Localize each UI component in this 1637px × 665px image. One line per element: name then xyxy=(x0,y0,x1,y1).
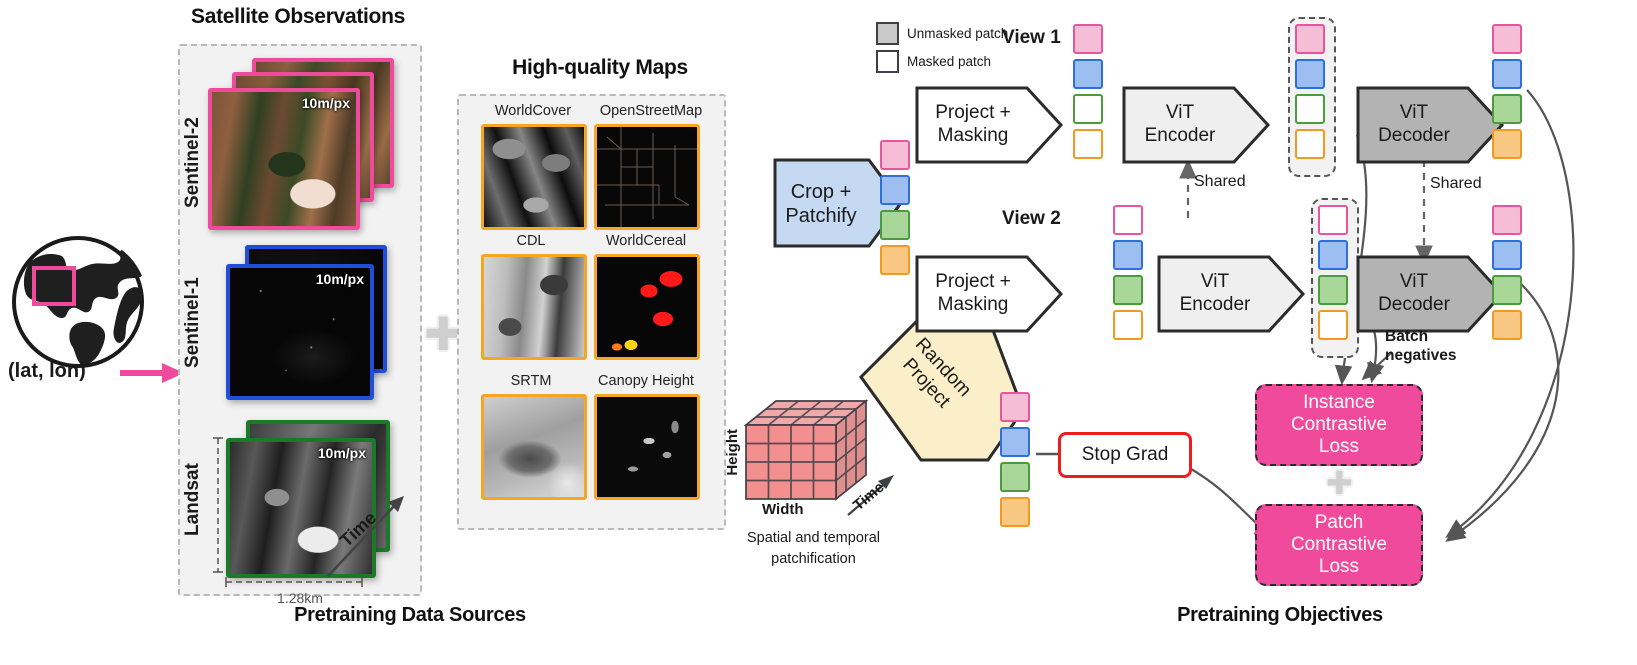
patch-column-view1-encoded xyxy=(1295,24,1325,159)
patch-pink-filled xyxy=(1295,24,1325,54)
patch-pink-filled xyxy=(880,140,910,170)
legend-label-unmasked: Unmasked patch xyxy=(907,26,1008,41)
instance-loss-line1: Instance xyxy=(1291,392,1387,414)
map-tile-worldcereal xyxy=(594,254,700,360)
patch-column-view1-decoded xyxy=(1492,24,1522,159)
latlon-label: (lat, lon) xyxy=(8,360,86,383)
patch-contrastive-loss-box[interactable]: Patch Contrastive Loss xyxy=(1255,504,1423,586)
patch-blue-filled xyxy=(1073,59,1103,89)
map-tile-canopy-height xyxy=(594,394,700,500)
project-masking-2-line2: Masking xyxy=(917,294,1029,317)
shared-decoder-label: Shared xyxy=(1430,175,1482,193)
crop-patchify-line2: Patchify xyxy=(773,204,869,228)
patch-green-filled xyxy=(1000,462,1030,492)
vit-encoder-2-line1: ViT xyxy=(1159,271,1271,294)
resolution-label-sentinel-2: 10m/px xyxy=(302,95,350,111)
vit-encoder-1-line2: Encoder xyxy=(1124,125,1236,148)
satellite-tile-sentinel-1: 10m/px xyxy=(226,264,374,400)
patch-orange-filled xyxy=(1492,310,1522,340)
satellite-source-label-landsat: Landsat xyxy=(182,430,206,570)
patch-loss-line2: Contrastive xyxy=(1291,534,1387,556)
cube-width-label: Width xyxy=(762,501,804,518)
map-label-canopy-height: Canopy Height xyxy=(586,373,706,389)
globe-block: (lat, lon) xyxy=(6,232,171,407)
patch-blue-filled xyxy=(1295,59,1325,89)
patch-column-crop-out xyxy=(880,140,910,275)
satellite-tile-sentinel-2: 10m/px xyxy=(208,88,360,230)
cube-caption-line1: Spatial and temporal xyxy=(706,530,921,546)
globe-icon xyxy=(6,232,166,372)
caption-pretraining-data-sources: Pretraining Data Sources xyxy=(160,604,660,627)
batch-negatives-label: Batch negatives xyxy=(1385,328,1457,365)
patch-loss-line3: Loss xyxy=(1291,556,1387,578)
patch-pink-filled xyxy=(1492,24,1522,54)
patch-loss-line1: Patch xyxy=(1291,512,1387,534)
osm-roads-icon xyxy=(597,127,697,227)
patch-orange-outline xyxy=(1318,310,1348,340)
patch-pink-filled xyxy=(1492,205,1522,235)
view2-label: View 2 xyxy=(1002,208,1061,230)
patch-pink-filled xyxy=(1000,392,1030,422)
patch-green-outline xyxy=(1073,94,1103,124)
patch-orange-filled xyxy=(1492,129,1522,159)
map-tile-srtm xyxy=(481,394,587,500)
vit-encoder-1-block[interactable]: ViT Encoder xyxy=(1122,86,1270,164)
map-tile-openstreetmap xyxy=(594,124,700,230)
vit-encoder-2-line2: Encoder xyxy=(1159,294,1271,317)
map-label-openstreetmap: OpenStreetMap xyxy=(588,103,714,119)
batch-negatives-line2: negatives xyxy=(1385,347,1457,366)
patch-green-filled xyxy=(1113,275,1143,305)
map-label-cdl: CDL xyxy=(481,233,581,249)
patch-green-outline xyxy=(1295,94,1325,124)
stop-grad-box[interactable]: Stop Grad xyxy=(1058,432,1192,478)
patch-green-filled xyxy=(1492,94,1522,124)
instance-contrastive-loss-box[interactable]: Instance Contrastive Loss xyxy=(1255,384,1423,466)
vit-decoder-2-line2: Decoder xyxy=(1358,294,1470,317)
satellite-source-label-sentinel-2: Sentinel-2 xyxy=(182,88,206,238)
patch-pink-outline xyxy=(1113,205,1143,235)
patch-blue-filled xyxy=(1000,427,1030,457)
patch-orange-outline xyxy=(1295,129,1325,159)
patch-column-view2-encoded xyxy=(1318,205,1348,340)
map-tile-cdl xyxy=(481,254,587,360)
patch-orange-filled xyxy=(1000,497,1030,527)
patch-green-filled xyxy=(880,210,910,240)
project-masking-2-block[interactable]: Project + Masking xyxy=(915,255,1063,333)
vit-decoder-2-line1: ViT xyxy=(1358,271,1470,294)
project-masking-1-block[interactable]: Project + Masking xyxy=(915,86,1063,164)
vit-decoder-1-block[interactable]: ViT Decoder xyxy=(1356,86,1504,164)
patch-blue-filled xyxy=(1492,240,1522,270)
patch-blue-filled xyxy=(1492,59,1522,89)
vit-decoder-1-line2: Decoder xyxy=(1358,125,1470,148)
batch-negatives-line1: Batch xyxy=(1385,328,1457,347)
caption-pretraining-objectives: Pretraining Objectives xyxy=(1030,604,1530,627)
project-masking-2-line1: Project + xyxy=(917,271,1029,294)
patch-blue-filled xyxy=(1113,240,1143,270)
legend-swatch-masked xyxy=(876,50,899,73)
project-masking-1-line2: Masking xyxy=(917,125,1029,148)
cube-height-label: Height xyxy=(724,429,741,476)
vit-encoder-2-block[interactable]: ViT Encoder xyxy=(1157,255,1305,333)
patch-orange-filled xyxy=(880,245,910,275)
patch-blue-filled xyxy=(880,175,910,205)
legend: Unmasked patch Masked patch xyxy=(876,22,1106,73)
instance-loss-line2: Contrastive xyxy=(1291,414,1387,436)
patch-green-filled xyxy=(1318,275,1348,305)
map-label-srtm: SRTM xyxy=(481,373,581,389)
page-title-satellite: Satellite Observations xyxy=(168,5,428,29)
patch-blue-filled xyxy=(1318,240,1348,270)
patch-orange-outline xyxy=(1113,310,1143,340)
vit-decoder-2-block[interactable]: ViT Decoder xyxy=(1356,255,1504,333)
vit-decoder-1-line1: ViT xyxy=(1358,102,1470,125)
legend-swatch-unmasked xyxy=(876,22,899,45)
patch-green-filled xyxy=(1492,275,1522,305)
patch-column-view2-masked xyxy=(1113,205,1143,340)
patch-pink-outline xyxy=(1318,205,1348,235)
map-label-worldcereal: WorldCereal xyxy=(594,233,698,249)
vit-encoder-1-line1: ViT xyxy=(1124,102,1236,125)
view1-label: View 1 xyxy=(1002,27,1061,49)
map-label-worldcover: WorldCover xyxy=(473,103,593,119)
instance-loss-line3: Loss xyxy=(1291,436,1387,458)
patch-column-random-project-out xyxy=(1000,392,1030,527)
patch-column-view2-decoded xyxy=(1492,205,1522,340)
resolution-label-sentinel-1: 10m/px xyxy=(316,271,364,287)
stop-grad-label: Stop Grad xyxy=(1082,444,1169,466)
loss-combine-plus-icon: ✚ xyxy=(1326,467,1353,499)
patch-orange-outline xyxy=(1073,129,1103,159)
map-tile-worldcover xyxy=(481,124,587,230)
satellite-source-label-sentinel-1: Sentinel-1 xyxy=(182,248,206,398)
project-masking-1-line1: Project + xyxy=(917,102,1029,125)
crop-patchify-line1: Crop + xyxy=(773,180,869,204)
patch-pink-filled xyxy=(1073,24,1103,54)
shared-encoder-label: Shared xyxy=(1194,173,1246,191)
cube-caption-line2: patchification xyxy=(706,551,921,567)
legend-label-masked: Masked patch xyxy=(907,54,991,69)
patch-column-view1-masked xyxy=(1073,24,1103,159)
page-title-maps: High-quality Maps xyxy=(470,56,730,80)
